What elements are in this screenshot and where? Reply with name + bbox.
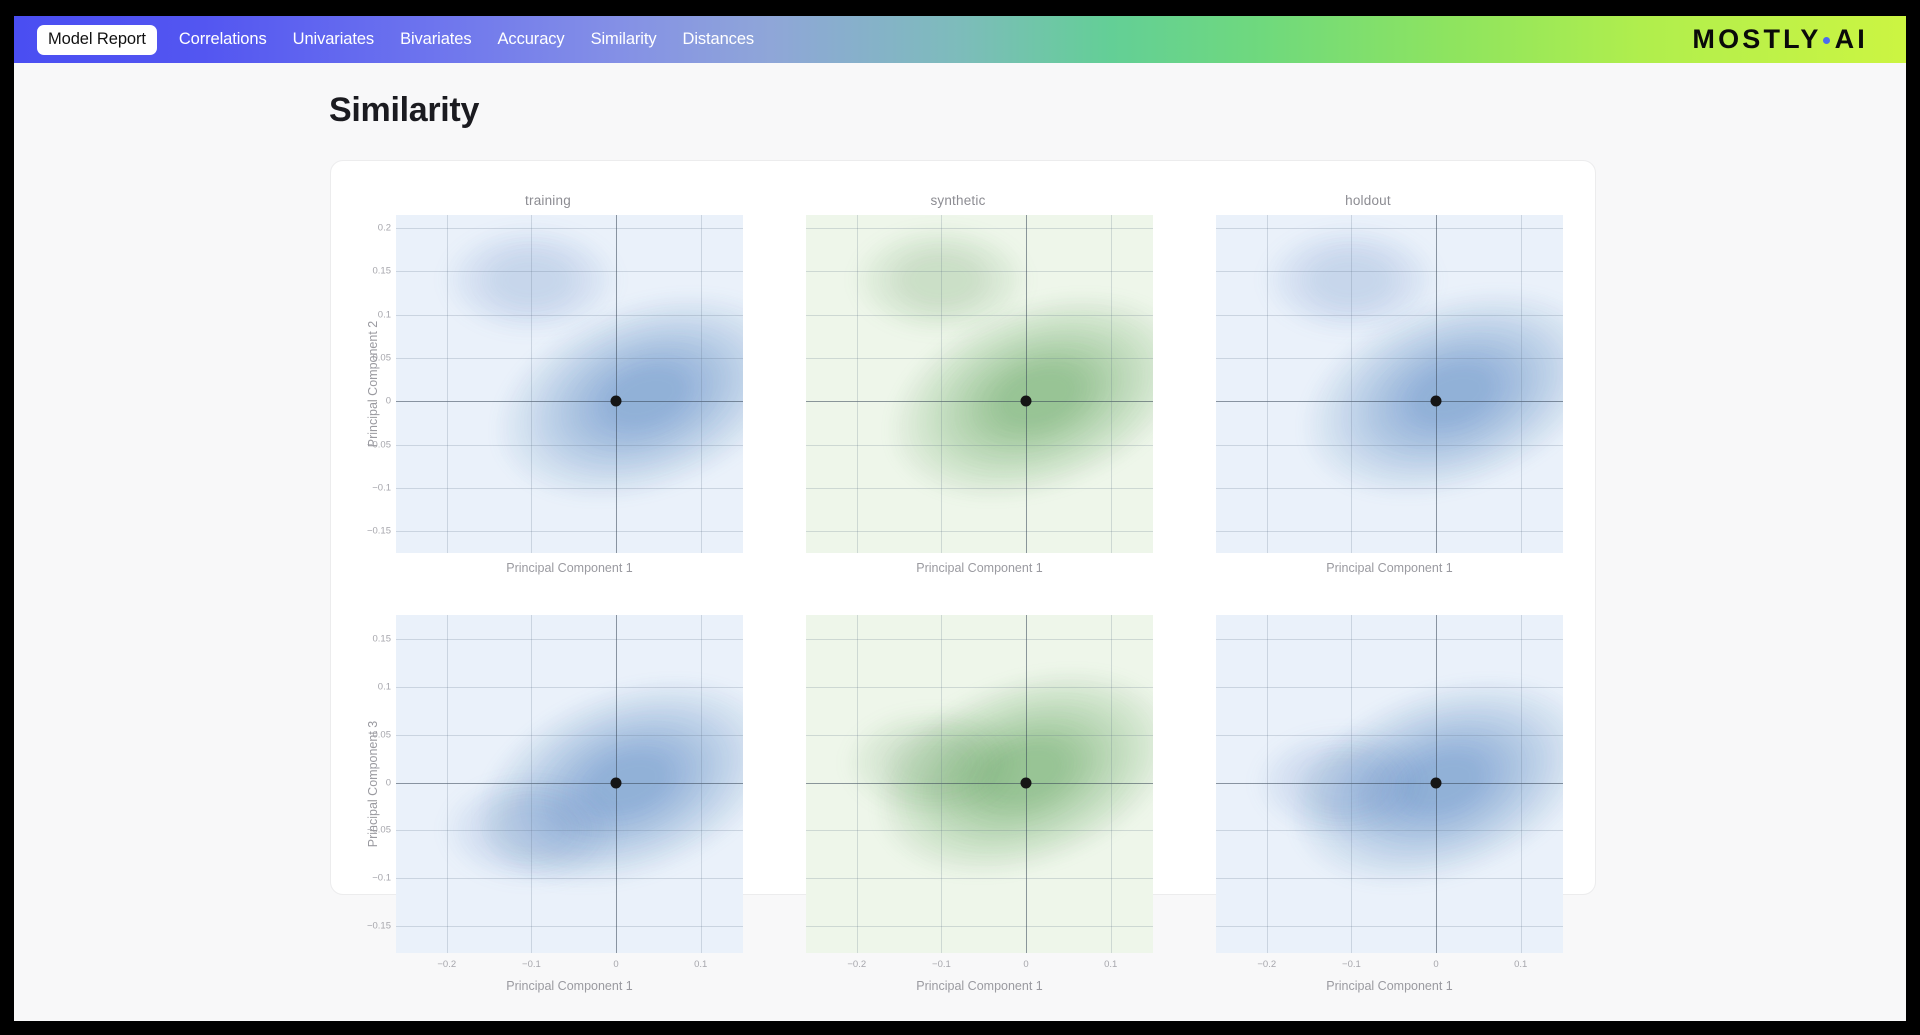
x-tick-label: 0	[1433, 959, 1438, 970]
gridline-vertical	[531, 215, 532, 553]
gridlines	[806, 615, 1153, 953]
gridline-vertical	[447, 215, 448, 553]
gridline-horizontal	[806, 315, 1153, 316]
gridline-horizontal	[1216, 358, 1563, 359]
mostly-ai-logo: MOSTLY AI	[1692, 24, 1868, 55]
y-tick-label: 0.2	[378, 223, 391, 234]
gridline-vertical	[1436, 215, 1437, 553]
gridline-horizontal	[396, 531, 743, 532]
y-tick-label: 0.15	[373, 266, 392, 277]
gridlines	[396, 215, 743, 553]
gridline-horizontal	[1216, 687, 1563, 688]
gridline-horizontal	[1216, 531, 1563, 532]
logo-text-mostly: MOSTLY	[1692, 24, 1821, 55]
pca-subplot-training-row0: training0.20.150.10.050−0.05−0.1−0.15Pri…	[343, 193, 753, 593]
gridline-horizontal	[806, 228, 1153, 229]
y-tick-label: 0	[386, 396, 391, 407]
x-axis-label: Principal Component 1	[396, 979, 743, 993]
page-title: Similarity	[329, 91, 479, 130]
x-tick-label: −0.2	[437, 959, 456, 970]
gridline-horizontal	[396, 639, 743, 640]
y-tick-label: −0.1	[372, 873, 391, 884]
origin-marker-dot	[1431, 396, 1442, 407]
gridline-vertical	[1111, 615, 1112, 953]
gridline-horizontal	[396, 830, 743, 831]
y-axis-label: Principal Component 3	[366, 694, 380, 874]
gridlines	[396, 615, 743, 953]
x-tick-label: 0	[1023, 959, 1028, 970]
gridline-vertical	[1267, 215, 1268, 553]
x-tick-label: 0.1	[1514, 959, 1527, 970]
pca-subplot-synthetic-row1: −0.2−0.100.1Principal Component 1	[753, 593, 1163, 993]
origin-marker-dot	[1021, 396, 1032, 407]
plot-area-holdout-row1	[1216, 615, 1563, 953]
gridline-horizontal	[396, 783, 743, 784]
nav-link-bivariates[interactable]: Bivariates	[400, 30, 471, 49]
x-axis-label: Principal Component 1	[806, 561, 1153, 575]
nav-link-correlations[interactable]: Correlations	[179, 30, 267, 49]
logo-text-ai: AI	[1835, 24, 1868, 55]
gridline-vertical	[701, 615, 702, 953]
plot-area-synthetic-row1	[806, 615, 1153, 953]
gridline-vertical	[1351, 215, 1352, 553]
pca-subplot-training-row1: 0.150.10.050−0.05−0.1−0.15Principal Comp…	[343, 593, 753, 993]
x-axis-ticks: −0.2−0.100.1	[1216, 959, 1563, 973]
origin-marker-dot	[611, 396, 622, 407]
gridline-horizontal	[396, 228, 743, 229]
gridline-horizontal	[396, 878, 743, 879]
x-tick-label: −0.2	[1257, 959, 1276, 970]
origin-marker-dot	[1021, 777, 1032, 788]
gridline-horizontal	[396, 445, 743, 446]
plot-area-training-row1	[396, 615, 743, 953]
gridline-vertical	[941, 615, 942, 953]
nav-link-similarity[interactable]: Similarity	[591, 30, 657, 49]
x-axis-label: Principal Component 1	[806, 979, 1153, 993]
gridline-vertical	[701, 215, 702, 553]
gridline-vertical	[616, 215, 617, 553]
gridline-horizontal	[396, 315, 743, 316]
gridline-horizontal	[1216, 830, 1563, 831]
gridline-horizontal	[1216, 401, 1563, 402]
subplot-title-holdout: holdout	[1163, 193, 1573, 208]
gridlines	[1216, 215, 1563, 553]
gridline-horizontal	[806, 687, 1153, 688]
x-tick-label: −0.2	[847, 959, 866, 970]
nav-link-distances[interactable]: Distances	[683, 30, 755, 49]
gridline-horizontal	[806, 358, 1153, 359]
gridline-horizontal	[806, 830, 1153, 831]
top-navigation-bar: Model Report Correlations Univariates Bi…	[14, 16, 1906, 63]
gridline-horizontal	[396, 401, 743, 402]
pca-subplot-synthetic-row0: syntheticPrincipal Component 1	[753, 193, 1163, 593]
gridline-horizontal	[1216, 639, 1563, 640]
gridline-horizontal	[806, 735, 1153, 736]
gridline-horizontal	[806, 878, 1153, 879]
gridline-vertical	[857, 215, 858, 553]
model-report-button[interactable]: Model Report	[37, 25, 157, 55]
gridline-vertical	[1267, 615, 1268, 953]
gridline-horizontal	[1216, 735, 1563, 736]
y-tick-label: 0.1	[378, 681, 391, 692]
plot-area-synthetic-row0	[806, 215, 1153, 553]
plot-area-training-row0	[396, 215, 743, 553]
x-axis-ticks: −0.2−0.100.1	[806, 959, 1153, 973]
gridline-horizontal	[396, 735, 743, 736]
gridlines	[1216, 615, 1563, 953]
gridline-horizontal	[1216, 271, 1563, 272]
x-axis-label: Principal Component 1	[1216, 561, 1563, 575]
gridline-horizontal	[806, 639, 1153, 640]
gridline-vertical	[1351, 615, 1352, 953]
gridline-horizontal	[1216, 228, 1563, 229]
pca-subplot-holdout-row1: −0.2−0.100.1Principal Component 1	[1163, 593, 1573, 993]
origin-marker-dot	[611, 777, 622, 788]
x-tick-label: −0.1	[932, 959, 951, 970]
x-tick-label: 0	[613, 959, 618, 970]
nav-link-univariates[interactable]: Univariates	[293, 30, 374, 49]
y-tick-label: 0	[386, 777, 391, 788]
y-tick-label: 0.15	[373, 633, 392, 644]
x-tick-label: 0.1	[1104, 959, 1117, 970]
x-axis-label: Principal Component 1	[1216, 979, 1563, 993]
x-tick-label: −0.1	[522, 959, 541, 970]
nav-links-group: Model Report Correlations Univariates Bi…	[24, 25, 780, 55]
gridline-vertical	[941, 215, 942, 553]
gridline-horizontal	[396, 687, 743, 688]
gridline-horizontal	[1216, 926, 1563, 927]
gridline-horizontal	[806, 926, 1153, 927]
gridline-vertical	[531, 615, 532, 953]
gridline-vertical	[1026, 215, 1027, 553]
gridline-horizontal	[1216, 783, 1563, 784]
gridline-horizontal	[1216, 445, 1563, 446]
gridline-horizontal	[806, 271, 1153, 272]
plot-area-holdout-row0	[1216, 215, 1563, 553]
subplot-title-training: training	[343, 193, 753, 208]
y-tick-label: −0.1	[372, 483, 391, 494]
logo-dot-icon	[1823, 37, 1830, 44]
gridline-vertical	[857, 615, 858, 953]
gridline-horizontal	[396, 926, 743, 927]
gridline-horizontal	[806, 531, 1153, 532]
gridline-vertical	[1111, 215, 1112, 553]
gridline-horizontal	[396, 488, 743, 489]
gridline-horizontal	[1216, 878, 1563, 879]
gridline-horizontal	[396, 271, 743, 272]
gridline-horizontal	[806, 445, 1153, 446]
gridline-horizontal	[806, 401, 1153, 402]
pca-plot-grid: training0.20.150.10.050−0.05−0.1−0.15Pri…	[331, 161, 1595, 894]
gridline-horizontal	[806, 783, 1153, 784]
x-axis-label: Principal Component 1	[396, 561, 743, 575]
pca-subplot-holdout-row0: holdoutPrincipal Component 1	[1163, 193, 1573, 593]
x-tick-label: 0.1	[694, 959, 707, 970]
gridline-vertical	[447, 615, 448, 953]
subplot-title-synthetic: synthetic	[753, 193, 1163, 208]
gridline-horizontal	[806, 488, 1153, 489]
x-tick-label: −0.1	[1342, 959, 1361, 970]
origin-marker-dot	[1431, 777, 1442, 788]
nav-link-accuracy[interactable]: Accuracy	[498, 30, 565, 49]
similarity-chart-card: training0.20.150.10.050−0.05−0.1−0.15Pri…	[330, 160, 1596, 895]
y-tick-label: −0.15	[367, 921, 391, 932]
gridline-horizontal	[1216, 315, 1563, 316]
y-tick-label: −0.15	[367, 526, 391, 537]
gridline-horizontal	[396, 358, 743, 359]
gridline-vertical	[1521, 615, 1522, 953]
gridlines	[806, 215, 1153, 553]
page-content: Similarity training0.20.150.10.050−0.05−…	[14, 63, 1906, 1021]
x-axis-ticks: −0.2−0.100.1	[396, 959, 743, 973]
gridline-horizontal	[1216, 488, 1563, 489]
y-axis-label: Principal Component 2	[366, 294, 380, 474]
gridline-vertical	[1521, 215, 1522, 553]
